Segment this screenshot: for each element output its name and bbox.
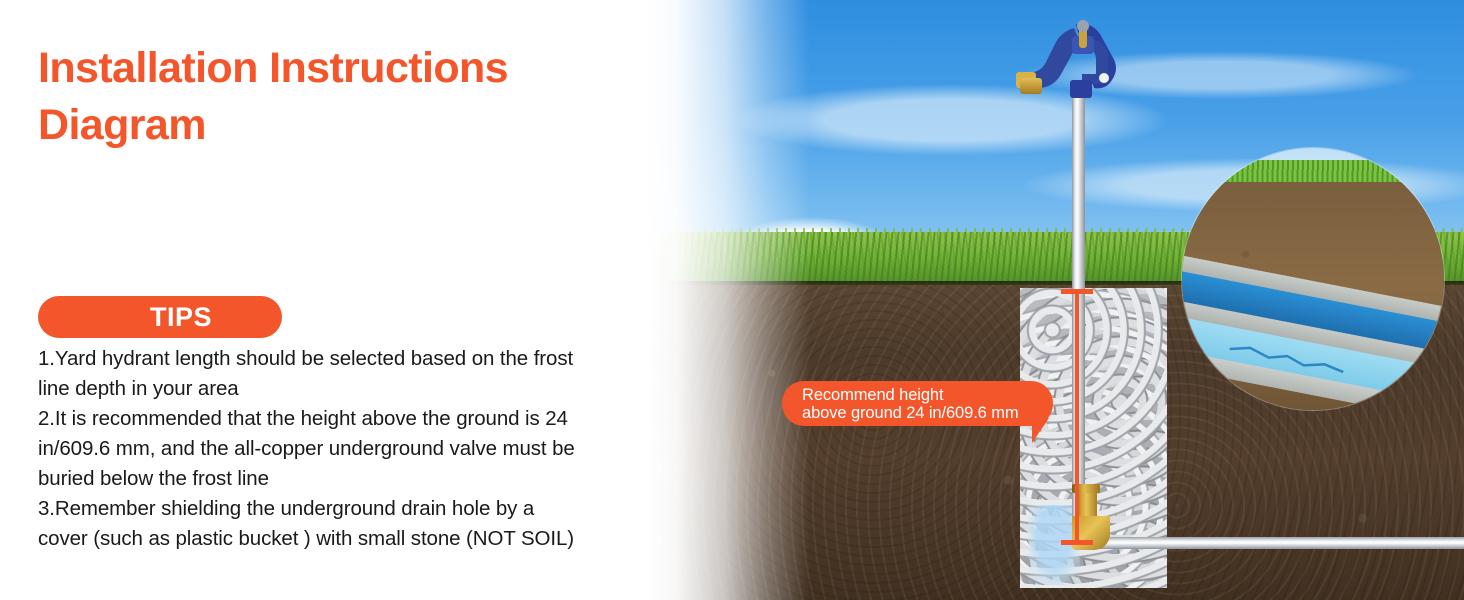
tip-item-1: 1.Yard hydrant length should be selected… [38,344,613,404]
supply-pipe [1092,537,1464,549]
photo-left-fade [620,0,810,600]
callout-text: Recommend height above ground 24 in/609.… [802,386,1052,422]
instructions-text-panel: Installation Instructions Diagram TIPS 1… [0,0,640,600]
tip-item-2: 2.It is recommended that the height abov… [38,404,613,494]
dimension-cap-top [1061,289,1093,294]
installation-instructions-banner: Installation Instructions Diagram TIPS 1… [0,0,1464,600]
tips-list: 1.Yard hydrant length should be selected… [38,344,613,554]
installation-diagram-photo [620,0,1464,600]
tips-badge-label: TIPS [38,296,282,338]
recommend-height-callout: Recommend height above ground 24 in/609.… [782,381,1053,426]
dimension-cap-bottom [1061,540,1093,545]
brass-spout [1020,78,1042,94]
dimension-line [1075,290,1079,545]
page-title: Installation Instructions Diagram [38,40,608,154]
frost-line-inset [1182,148,1444,410]
tip-item-3: 3.Remember shielding the underground dra… [38,494,613,554]
tips-badge: TIPS [38,296,282,338]
